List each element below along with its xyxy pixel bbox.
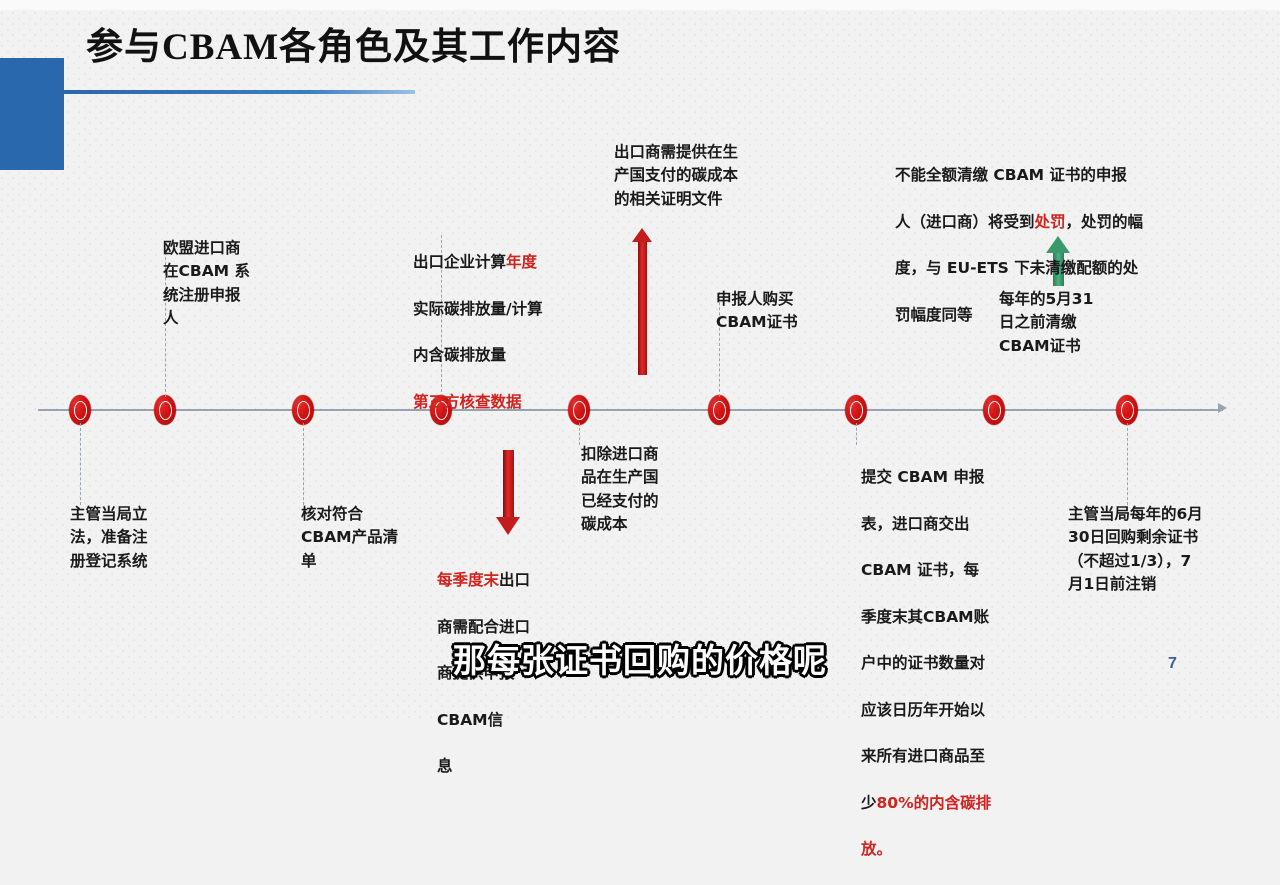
timeline-node-9[interactable] [1116, 395, 1138, 425]
page-title: 参与CBAM各角色及其工作内容 [86, 16, 986, 70]
red-down-arrow-shaft [503, 450, 514, 518]
callout-line: 人（进口商）将受到处罚，处罚的幅 [895, 211, 1255, 234]
callout-annual-surrender-deadline: 每年的5月31 日之前清缴 CBAM证书 [999, 288, 1159, 358]
leader-line-node-7 [856, 423, 857, 445]
video-subtitle: 那每张证书回购的价格呢 [0, 634, 1280, 682]
callout-deduct-paid-carbon-cost: 扣除进口商 品在生产国 已经支付的 碳成本 [581, 443, 711, 536]
timeline-node-6[interactable] [708, 395, 730, 425]
timeline-node-3[interactable] [292, 395, 314, 425]
callout-exporter-annual-emission-calc: 出口企业计算年度 实际碳排放量/计算 内含碳排放量 第三方核查数据 [413, 228, 613, 437]
callout-line: CBAM 证书，每 [861, 559, 1051, 582]
callout-line: CBAM信 [437, 709, 597, 732]
title-underline-rule [63, 90, 415, 94]
callout-line: 每季度末出口 [437, 569, 597, 592]
callout-line: 表，进口商交出 [861, 513, 1051, 536]
callout-line: 内含碳排放量 [413, 344, 613, 367]
page-number: 7 [1168, 655, 1177, 673]
callout-line: 季度末其CBAM账 [861, 606, 1051, 629]
callout-line: 不能全额清缴 CBAM 证书的申报 [895, 164, 1255, 187]
callout-line: 应该日历年开始以 [861, 699, 1051, 722]
highlight-80-percent: 80%的内含碳排 [877, 794, 992, 812]
leader-line-node-9 [1127, 423, 1128, 505]
timeline-node-7[interactable] [845, 395, 867, 425]
callout-authority-buyback-certificates: 主管当局每年的6月 30日回购剩余证书 （不超过1/3），7 月1日前注销 [1068, 503, 1268, 596]
leader-line-node-1 [80, 423, 81, 505]
callout-line: 少80%的内含碳排 [861, 792, 1051, 815]
timeline-node-8[interactable] [983, 395, 1005, 425]
timeline-node-2[interactable] [154, 395, 176, 425]
callout-authority-legislation-registry: 主管当局立 法，准备注 册登记系统 [70, 503, 210, 573]
callout-line: 息 [437, 755, 597, 778]
callout-eu-importer-registration: 欧盟进口商 在CBAM 系 统注册申报 人 [163, 237, 293, 330]
callout-line: 来所有进口商品至 [861, 745, 1051, 768]
callout-line: 出口企业计算年度 [413, 251, 613, 274]
highlight-emission-end: 放。 [861, 838, 1051, 861]
red-up-arrow-shaft [638, 240, 647, 375]
leader-line-node-3 [303, 423, 304, 505]
highlight-third-party-verification: 第三方核查数据 [413, 391, 613, 414]
title-accent-block [0, 58, 64, 170]
callout-line: 实际碳排放量/计算 [413, 298, 613, 321]
highlight-annual: 年度 [506, 253, 537, 271]
highlight-penalty: 处罚 [1035, 213, 1066, 231]
callout-carbon-cost-proof-documents: 出口商需提供在生 产国支付的碳成本 的相关证明文件 [614, 141, 804, 211]
highlight-quarter-end: 每季度末 [437, 571, 499, 589]
top-edge-strip [0, 0, 1280, 10]
slide-canvas: 参与CBAM各角色及其工作内容 欧盟进口商 在CBAM 系 统注册申报 人 出口… [0, 0, 1280, 720]
red-up-arrow-head [632, 228, 652, 242]
callout-check-cbam-product-list: 核对符合 CBAM产品清 单 [301, 503, 451, 573]
callout-declarant-buys-certificates: 申报人购买 CBAM证书 [716, 288, 856, 335]
timeline-node-1[interactable] [69, 395, 91, 425]
callout-line: 度，与 EU-ETS 下未清缴配额的处 [895, 257, 1255, 280]
callout-line: 提交 CBAM 申报 [861, 466, 1051, 489]
red-down-arrow-head [496, 517, 520, 535]
timeline-axis [38, 409, 1223, 411]
timeline-axis-arrowhead [1218, 403, 1227, 413]
